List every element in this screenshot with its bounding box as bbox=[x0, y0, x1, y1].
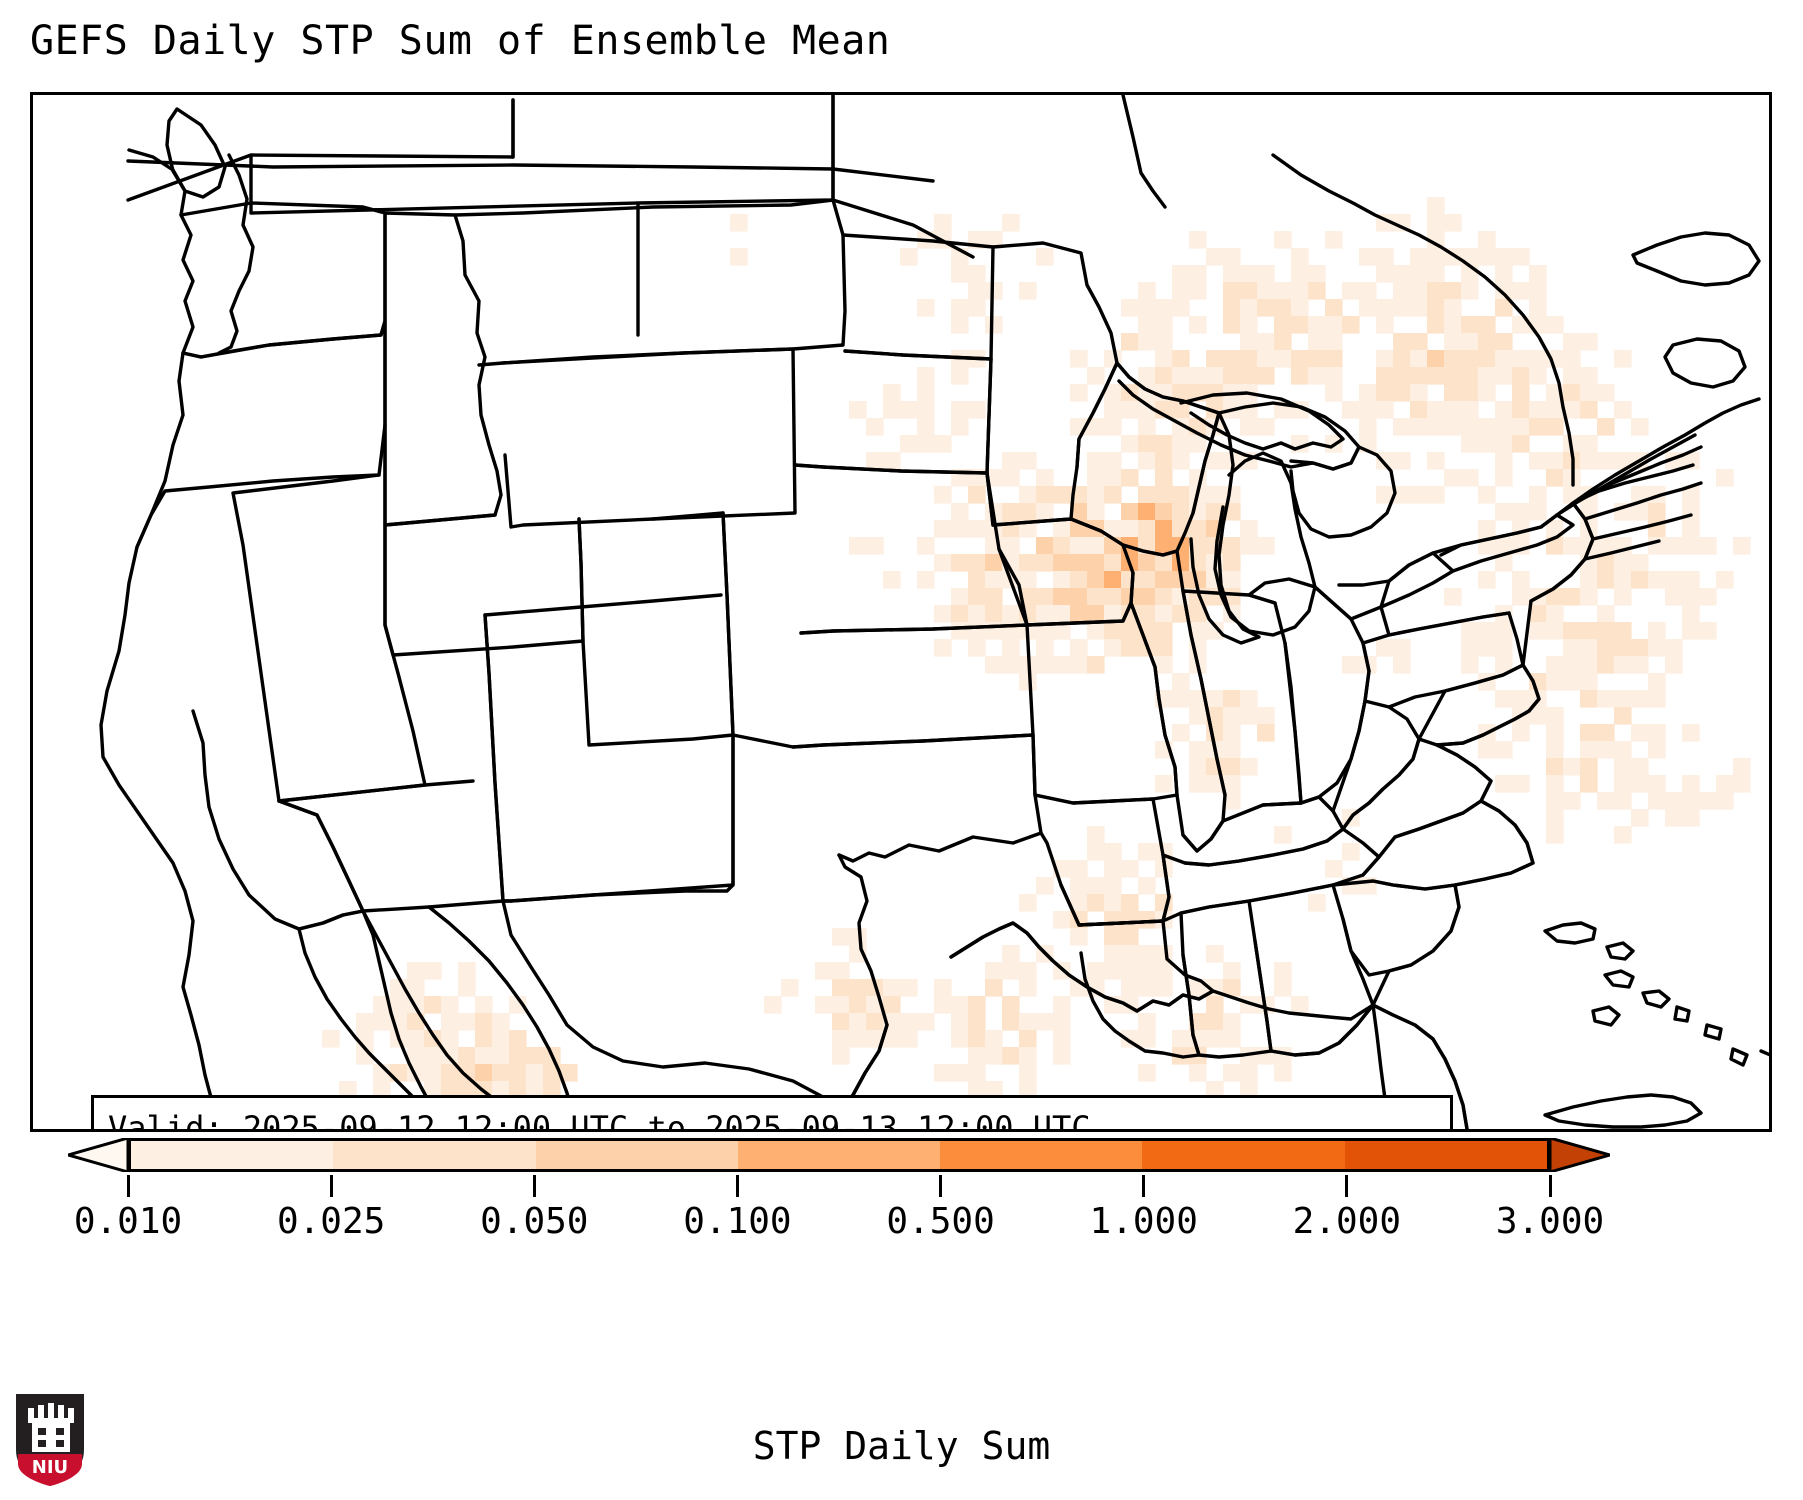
indiana bbox=[1183, 591, 1301, 805]
colorbar-segment-0 bbox=[131, 1141, 333, 1169]
lake-huron-erie bbox=[1291, 447, 1453, 619]
colorbar-tick-4 bbox=[939, 1175, 942, 1197]
south-carolina bbox=[1333, 881, 1459, 975]
nova-scotia-newfoundland bbox=[1633, 233, 1759, 387]
mississippi bbox=[1079, 913, 1199, 1057]
niu-shield-logo: NIU bbox=[14, 1392, 86, 1488]
washington-state bbox=[181, 203, 385, 357]
niu-wordmark: NIU bbox=[32, 1457, 68, 1478]
colorbar-tick-6 bbox=[1345, 1175, 1348, 1197]
border-49th bbox=[128, 161, 933, 181]
colorbar-tick-label-0: 0.010 bbox=[74, 1201, 182, 1242]
colorbar-tick-label-1: 0.025 bbox=[277, 1201, 385, 1242]
colorbar-tick-label-5: 1.000 bbox=[1090, 1201, 1198, 1242]
north-dakota bbox=[843, 235, 993, 359]
arizona bbox=[279, 615, 503, 911]
gulf-coast bbox=[951, 923, 1373, 1019]
colorbar: 0.0100.0250.0500.1000.5001.0002.0003.000 bbox=[0, 1128, 1803, 1228]
wyoming-state bbox=[503, 349, 795, 527]
illinois bbox=[1123, 545, 1225, 851]
colorbar-tick-2 bbox=[533, 1175, 536, 1197]
south-dakota bbox=[795, 351, 991, 473]
colorbar-axis-label: STP Daily Sum bbox=[0, 1424, 1803, 1468]
colorbar-tick-label-2: 0.050 bbox=[480, 1201, 588, 1242]
idaho-state bbox=[385, 213, 501, 525]
colorbar-segment-2 bbox=[536, 1141, 738, 1169]
california bbox=[193, 711, 363, 929]
figure-canvas: GEFS Daily STP Sum of Ensemble Mean bbox=[0, 0, 1803, 1500]
virginia bbox=[1343, 739, 1491, 857]
oregon-state bbox=[137, 321, 385, 547]
colorbar-segment-4 bbox=[940, 1141, 1142, 1169]
colorbar-extend-low-arrow bbox=[68, 1138, 128, 1172]
hispaniola-edge bbox=[1761, 1051, 1769, 1057]
colorbar-tick-5 bbox=[1142, 1175, 1145, 1197]
geography-layer bbox=[33, 95, 1769, 1129]
colorbar-tick-label-4: 0.500 bbox=[886, 1201, 994, 1242]
map-stack bbox=[33, 95, 1769, 1129]
colorbar-tick-label-6: 2.000 bbox=[1293, 1201, 1401, 1242]
lake-superior bbox=[1117, 363, 1359, 469]
tennessee bbox=[1163, 829, 1379, 921]
bahamas bbox=[1545, 923, 1747, 1065]
colorbar-tick-3 bbox=[736, 1175, 739, 1197]
colorbar-gradient bbox=[128, 1138, 1550, 1172]
louisiana bbox=[951, 885, 1213, 1011]
atlantic-coast bbox=[1373, 447, 1701, 1129]
arkansas bbox=[1035, 795, 1169, 925]
puget-sound-detail bbox=[219, 155, 253, 353]
colorado-state bbox=[579, 513, 733, 745]
colorbar-extend-high-arrow bbox=[1550, 1138, 1610, 1172]
colorbar-tick-7 bbox=[1549, 1175, 1552, 1197]
annotation-box: Valid: 2025-09-12 12:00 UTC to 2025-09-1… bbox=[91, 1095, 1453, 1132]
colorbar-tick-label-7: 3.000 bbox=[1496, 1201, 1604, 1242]
utah-state bbox=[385, 515, 583, 655]
lake-ontario bbox=[1441, 515, 1573, 571]
cuba bbox=[1545, 1095, 1701, 1127]
new-york bbox=[1381, 503, 1593, 635]
michigan-upper bbox=[1181, 393, 1343, 449]
missouri bbox=[1027, 603, 1177, 803]
minnesota bbox=[987, 243, 1117, 525]
montana-state bbox=[455, 200, 845, 365]
colorbar-segment-1 bbox=[333, 1141, 535, 1169]
iowa bbox=[987, 473, 1133, 625]
north-carolina bbox=[1363, 801, 1533, 889]
maryland-delaware bbox=[1419, 665, 1539, 745]
colorbar-tick-label-3: 0.100 bbox=[683, 1201, 791, 1242]
wisconsin bbox=[1071, 363, 1219, 555]
colorbar-tick-1 bbox=[330, 1175, 333, 1197]
oklahoma bbox=[733, 735, 1041, 861]
map-panel: Valid: 2025-09-12 12:00 UTC to 2025-09-1… bbox=[30, 92, 1772, 1132]
colorbar-segment-3 bbox=[738, 1141, 940, 1169]
nebraska bbox=[795, 465, 1027, 633]
gulf-of-california bbox=[363, 911, 535, 1125]
new-mexico bbox=[485, 513, 733, 901]
quebec-ontario-coast bbox=[1273, 155, 1573, 485]
texas bbox=[503, 735, 887, 1111]
kansas bbox=[793, 625, 1033, 747]
canada-provinces bbox=[513, 95, 1165, 207]
colorbar-segment-6 bbox=[1345, 1141, 1547, 1169]
kentucky bbox=[1183, 797, 1343, 865]
pacific-coast bbox=[101, 150, 219, 1129]
colorbar-segment-5 bbox=[1142, 1141, 1344, 1169]
colorbar-tick-0 bbox=[127, 1175, 130, 1197]
figure-title: GEFS Daily STP Sum of Ensemble Mean bbox=[30, 18, 890, 64]
